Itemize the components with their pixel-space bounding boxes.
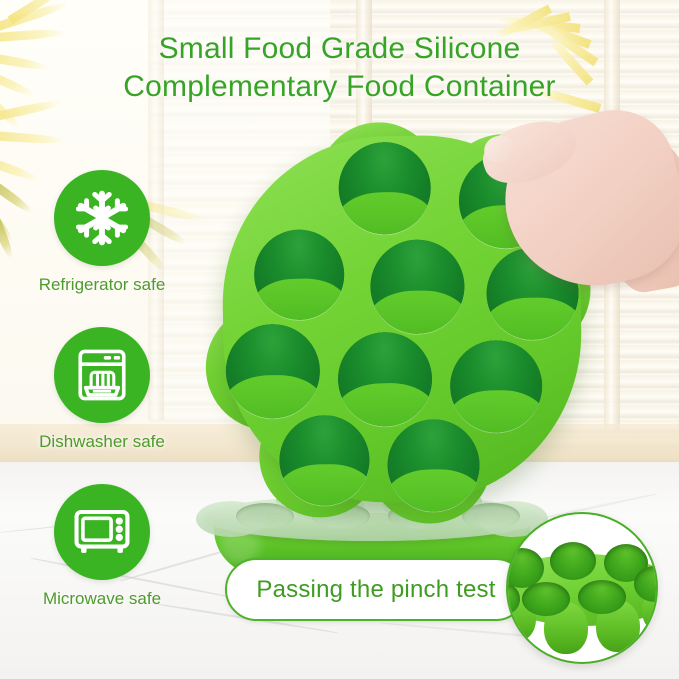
tray-well bbox=[370, 239, 466, 335]
product-marketing-image: Small Food Grade Silicone Complementary … bbox=[0, 0, 679, 679]
feature-label-dishwasher: Dishwasher safe bbox=[2, 432, 202, 452]
tray-well bbox=[338, 141, 432, 235]
feature-label-refrigerator: Refrigerator safe bbox=[2, 275, 202, 295]
tray-well bbox=[253, 229, 345, 321]
closeup-tray bbox=[506, 540, 658, 660]
hand-holding-tray bbox=[478, 96, 679, 311]
pinch-test-callout: Passing the pinch test bbox=[225, 558, 527, 621]
microwave-icon bbox=[72, 504, 132, 560]
snowflake-badge bbox=[54, 170, 150, 266]
pinch-test-text: Passing the pinch test bbox=[256, 576, 495, 604]
tray-well bbox=[337, 331, 433, 427]
microwave-badge bbox=[54, 484, 150, 580]
page-title: Small Food Grade Silicone Complementary … bbox=[0, 30, 679, 106]
title-line-1: Small Food Grade Silicone bbox=[0, 30, 679, 68]
feature-label-microwave: Microwave safe bbox=[2, 589, 202, 609]
tray-well bbox=[387, 419, 481, 513]
dishwasher-icon bbox=[73, 346, 131, 404]
dishwasher-badge bbox=[54, 327, 150, 423]
feature-badge-dishwasher: Dishwasher safe bbox=[2, 327, 202, 452]
feature-badge-microwave: Microwave safe bbox=[2, 484, 202, 609]
tray-well bbox=[449, 340, 543, 434]
pinch-test-closeup-inset bbox=[506, 512, 658, 664]
feature-badge-refrigerator: Refrigerator safe bbox=[2, 170, 202, 295]
tray-well bbox=[279, 415, 371, 507]
snowflake-icon bbox=[73, 189, 131, 247]
tray-well bbox=[225, 323, 321, 419]
